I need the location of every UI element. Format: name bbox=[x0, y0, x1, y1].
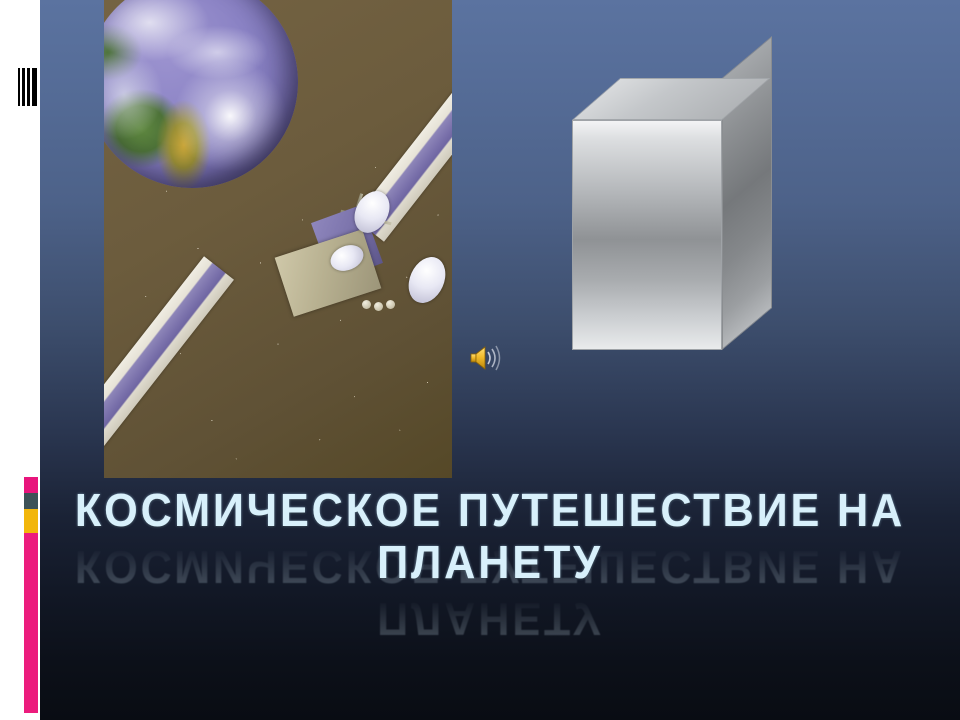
color-bar-magenta bbox=[24, 533, 38, 713]
title-line-1: КОСМИЧЕСКОЕ ПУТЕШЕСТВИЕ НА bbox=[67, 484, 913, 536]
vertical-bars-icon bbox=[18, 68, 37, 106]
color-bars-decoration bbox=[24, 477, 38, 713]
color-bar-teal bbox=[24, 493, 38, 509]
vertical-bar bbox=[32, 68, 37, 106]
solar-panel-lower bbox=[104, 256, 234, 448]
grey-3d-box bbox=[572, 78, 772, 350]
slide-title: КОСМИЧЕСКОЕ ПУТЕШЕСТВИЕ НА ПЛАНЕТУ bbox=[40, 484, 940, 588]
thruster-nozzle bbox=[362, 300, 371, 309]
vertical-bar bbox=[18, 68, 20, 106]
box-front-face bbox=[572, 120, 722, 350]
vertical-bar bbox=[22, 68, 25, 106]
thruster-nozzle bbox=[386, 300, 395, 309]
vertical-bar bbox=[27, 68, 30, 106]
color-bar-yellow bbox=[24, 509, 38, 533]
title-line-2: ПЛАНЕТУ bbox=[67, 536, 913, 588]
satellite-dish bbox=[402, 251, 452, 309]
thruster-nozzle bbox=[374, 302, 383, 311]
satellite-over-earth-photo bbox=[104, 0, 452, 478]
speaker-icon[interactable] bbox=[468, 342, 502, 374]
presentation-slide: КОСМИЧЕСКОЕ ПУТЕШЕСТВИЕ НА ПЛАНЕТУ КОСМИ… bbox=[0, 0, 960, 720]
satellite-graphic bbox=[104, 0, 452, 478]
color-bar-pink bbox=[24, 477, 38, 493]
